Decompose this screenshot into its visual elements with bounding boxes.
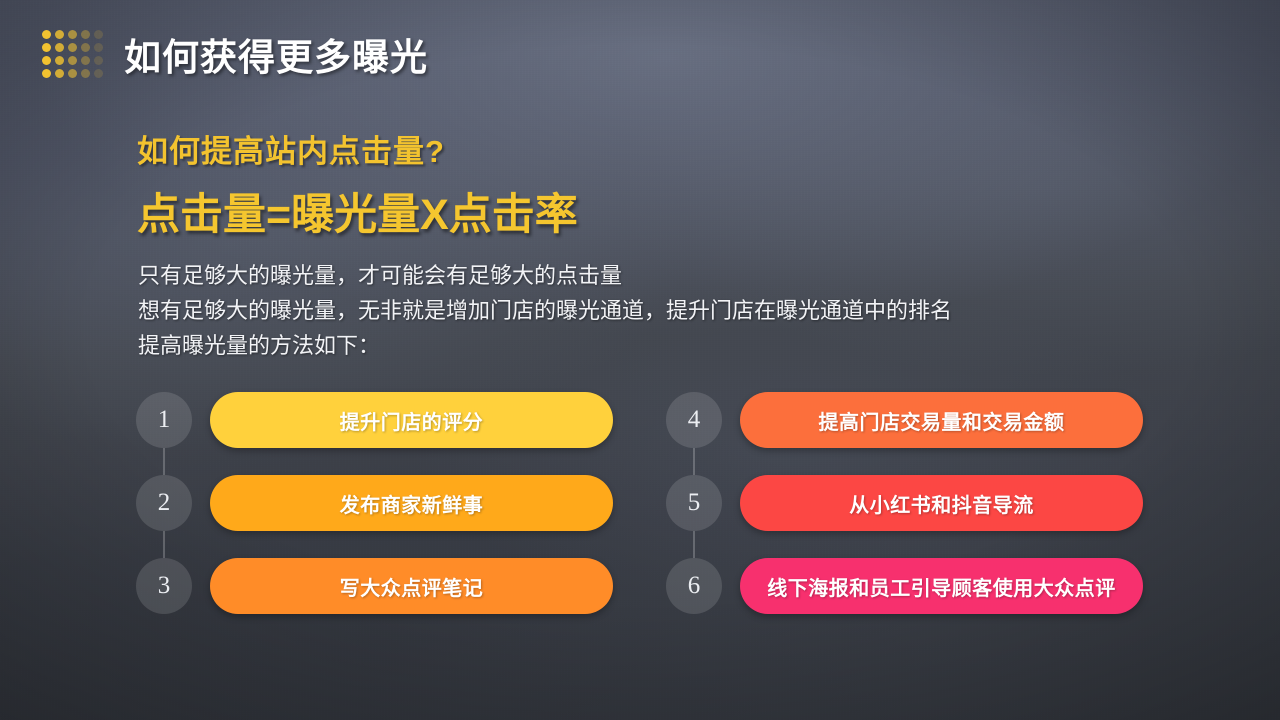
- step-number-badge: 6: [666, 558, 722, 614]
- grid-dot: [68, 43, 77, 52]
- grid-dot: [42, 43, 51, 52]
- grid-dot: [42, 69, 51, 78]
- step-pill-5[interactable]: 从小红书和抖音导流: [740, 475, 1143, 531]
- page-title: 如何获得更多曝光: [124, 27, 428, 81]
- grid-dot: [55, 56, 64, 65]
- grid-dot: [81, 30, 90, 39]
- section-subheading: 如何提高站内点击量?: [137, 126, 445, 171]
- grid-dot: [55, 30, 64, 39]
- step-pill-2[interactable]: 发布商家新鲜事: [210, 475, 613, 531]
- slide-header: 如何获得更多曝光: [0, 0, 1280, 100]
- grid-dot: [94, 56, 103, 65]
- grid-dot: [94, 30, 103, 39]
- step-number-badge: 3: [136, 558, 192, 614]
- grid-dot: [55, 43, 64, 52]
- step-connector: [693, 448, 695, 475]
- grid-dot: [42, 30, 51, 39]
- grid-dot: [55, 69, 64, 78]
- body-line: 提高曝光量的方法如下：: [138, 328, 1168, 363]
- step-number-badge: 5: [666, 475, 722, 531]
- grid-dot: [94, 69, 103, 78]
- step-pill-4[interactable]: 提高门店交易量和交易金额: [740, 392, 1143, 448]
- grid-dot: [42, 56, 51, 65]
- slide-canvas: 如何获得更多曝光 如何提高站内点击量? 点击量=曝光量X点击率 只有足够大的曝光…: [0, 0, 1280, 720]
- step-number-badge: 1: [136, 392, 192, 448]
- grid-dot: [68, 56, 77, 65]
- grid-dot: [81, 56, 90, 65]
- formula-heading: 点击量=曝光量X点击率: [137, 180, 578, 242]
- step-connector: [693, 531, 695, 558]
- grid-dot: [81, 69, 90, 78]
- grid-dot: [68, 30, 77, 39]
- step-number-badge: 2: [136, 475, 192, 531]
- step-pill-3[interactable]: 写大众点评笔记: [210, 558, 613, 614]
- body-paragraph: 只有足够大的曝光量，才可能会有足够大的点击量 想有足够大的曝光量，无非就是增加门…: [138, 258, 1168, 363]
- step-connector: [163, 531, 165, 558]
- step-pill-1[interactable]: 提升门店的评分: [210, 392, 613, 448]
- grid-dot: [81, 43, 90, 52]
- grid-dot: [68, 69, 77, 78]
- grid-dot: [94, 43, 103, 52]
- step-pill-6[interactable]: 线下海报和员工引导顾客使用大众点评: [740, 558, 1143, 614]
- dot-grid-icon: [42, 30, 107, 82]
- step-number-badge: 4: [666, 392, 722, 448]
- body-line: 只有足够大的曝光量，才可能会有足够大的点击量: [138, 258, 1168, 293]
- step-connector: [163, 448, 165, 475]
- body-line: 想有足够大的曝光量，无非就是增加门店的曝光通道，提升门店在曝光通道中的排名: [138, 293, 1168, 328]
